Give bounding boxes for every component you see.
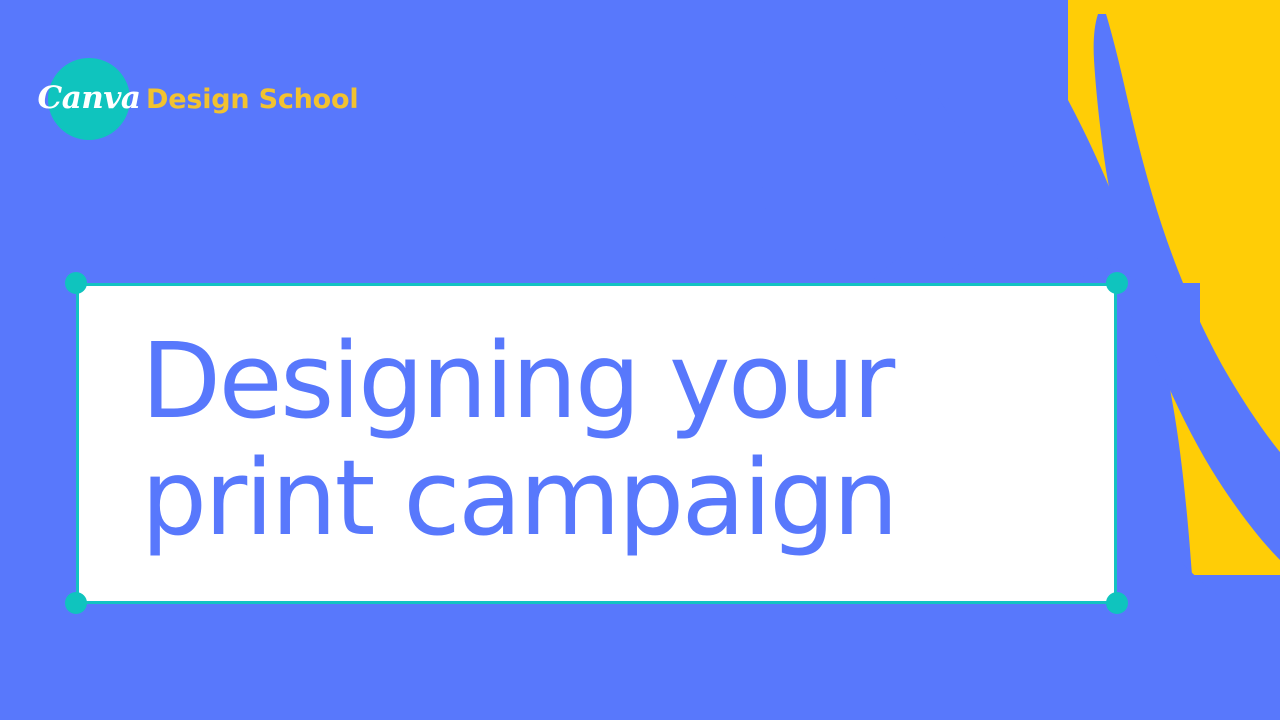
brush-stroke-lower-connector [1180, 560, 1280, 631]
brush-stroke-n-shape [876, 0, 1032, 190]
slide-canvas: Canva Design School Designing your print… [0, 0, 1280, 720]
canva-logo-wordmark: Canva [38, 83, 141, 114]
selection-handle-bottom-right[interactable] [1106, 592, 1128, 614]
headline-line-1: Designing your [141, 323, 1114, 439]
brand-lockup: Canva Design School [48, 58, 358, 140]
headline-text[interactable]: Designing your print campaign [79, 323, 1114, 556]
brand-name-label: Design School [146, 84, 358, 115]
canva-logo-icon: Canva [48, 58, 130, 140]
selection-handle-bottom-left[interactable] [65, 592, 87, 614]
selection-handle-top-left[interactable] [65, 272, 87, 294]
headline-line-2: print campaign [141, 440, 1114, 556]
selection-handle-top-right[interactable] [1106, 272, 1128, 294]
text-element-frame[interactable]: Designing your print campaign [76, 283, 1117, 604]
